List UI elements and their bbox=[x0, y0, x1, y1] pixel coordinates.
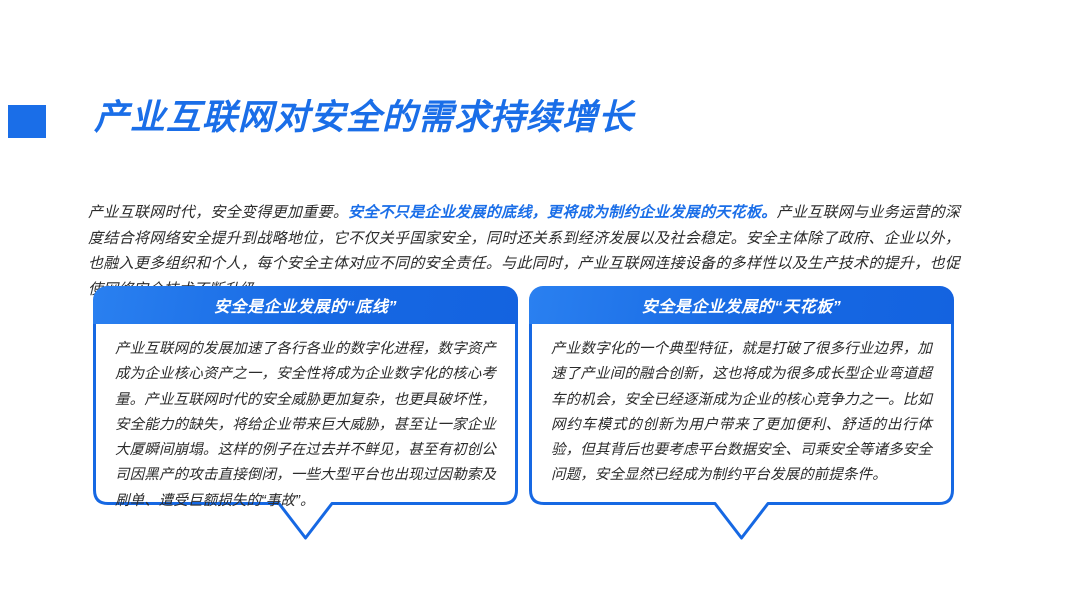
card-body-text: 产业互联网的发展加速了各行各业的数字化进程，数字资产成为企业核心资产之一，安全性… bbox=[115, 337, 496, 514]
card-header-label: 安全是企业发展的“天花板” bbox=[642, 293, 842, 317]
intro-text-part1: 产业互联网时代，安全变得更加重要。 bbox=[88, 204, 348, 221]
card-group: 安全是企业发展的“底线” 产业互联网的发展加速了各行各业的数字化进程，数字资产成… bbox=[0, 286, 1080, 566]
intro-highlight-text: 安全不只是企业发展的底线，更将成为制约企业发展的天花板。 bbox=[348, 204, 776, 221]
page-header: 产业互联网对安全的需求持续增长 bbox=[0, 92, 1080, 152]
card-body-text: 产业数字化的一个典型特征，就是打破了很多行业边界，加速了产业间的融合创新，这也将… bbox=[551, 337, 932, 489]
card-body-bottom-line: 产业互联网的发展加速了各行各业的数字化进程，数字资产成为企业核心资产之一，安全性… bbox=[93, 324, 518, 529]
blue-square-marker bbox=[8, 105, 46, 138]
card-header-ceiling: 安全是企业发展的“天花板” bbox=[529, 286, 954, 324]
page-title: 产业互联网对安全的需求持续增长 bbox=[94, 92, 634, 144]
card-header-bottom-line: 安全是企业发展的“底线” bbox=[93, 286, 518, 324]
card-header-label: 安全是企业发展的“底线” bbox=[214, 293, 397, 317]
card-body-ceiling: 产业数字化的一个典型特征，就是打破了很多行业边界，加速了产业间的融合创新，这也将… bbox=[529, 324, 954, 529]
card-ceiling: 安全是企业发展的“天花板” 产业数字化的一个典型特征，就是打破了很多行业边界，加… bbox=[529, 286, 954, 529]
card-bottom-line: 安全是企业发展的“底线” 产业互联网的发展加速了各行各业的数字化进程，数字资产成… bbox=[93, 286, 518, 529]
